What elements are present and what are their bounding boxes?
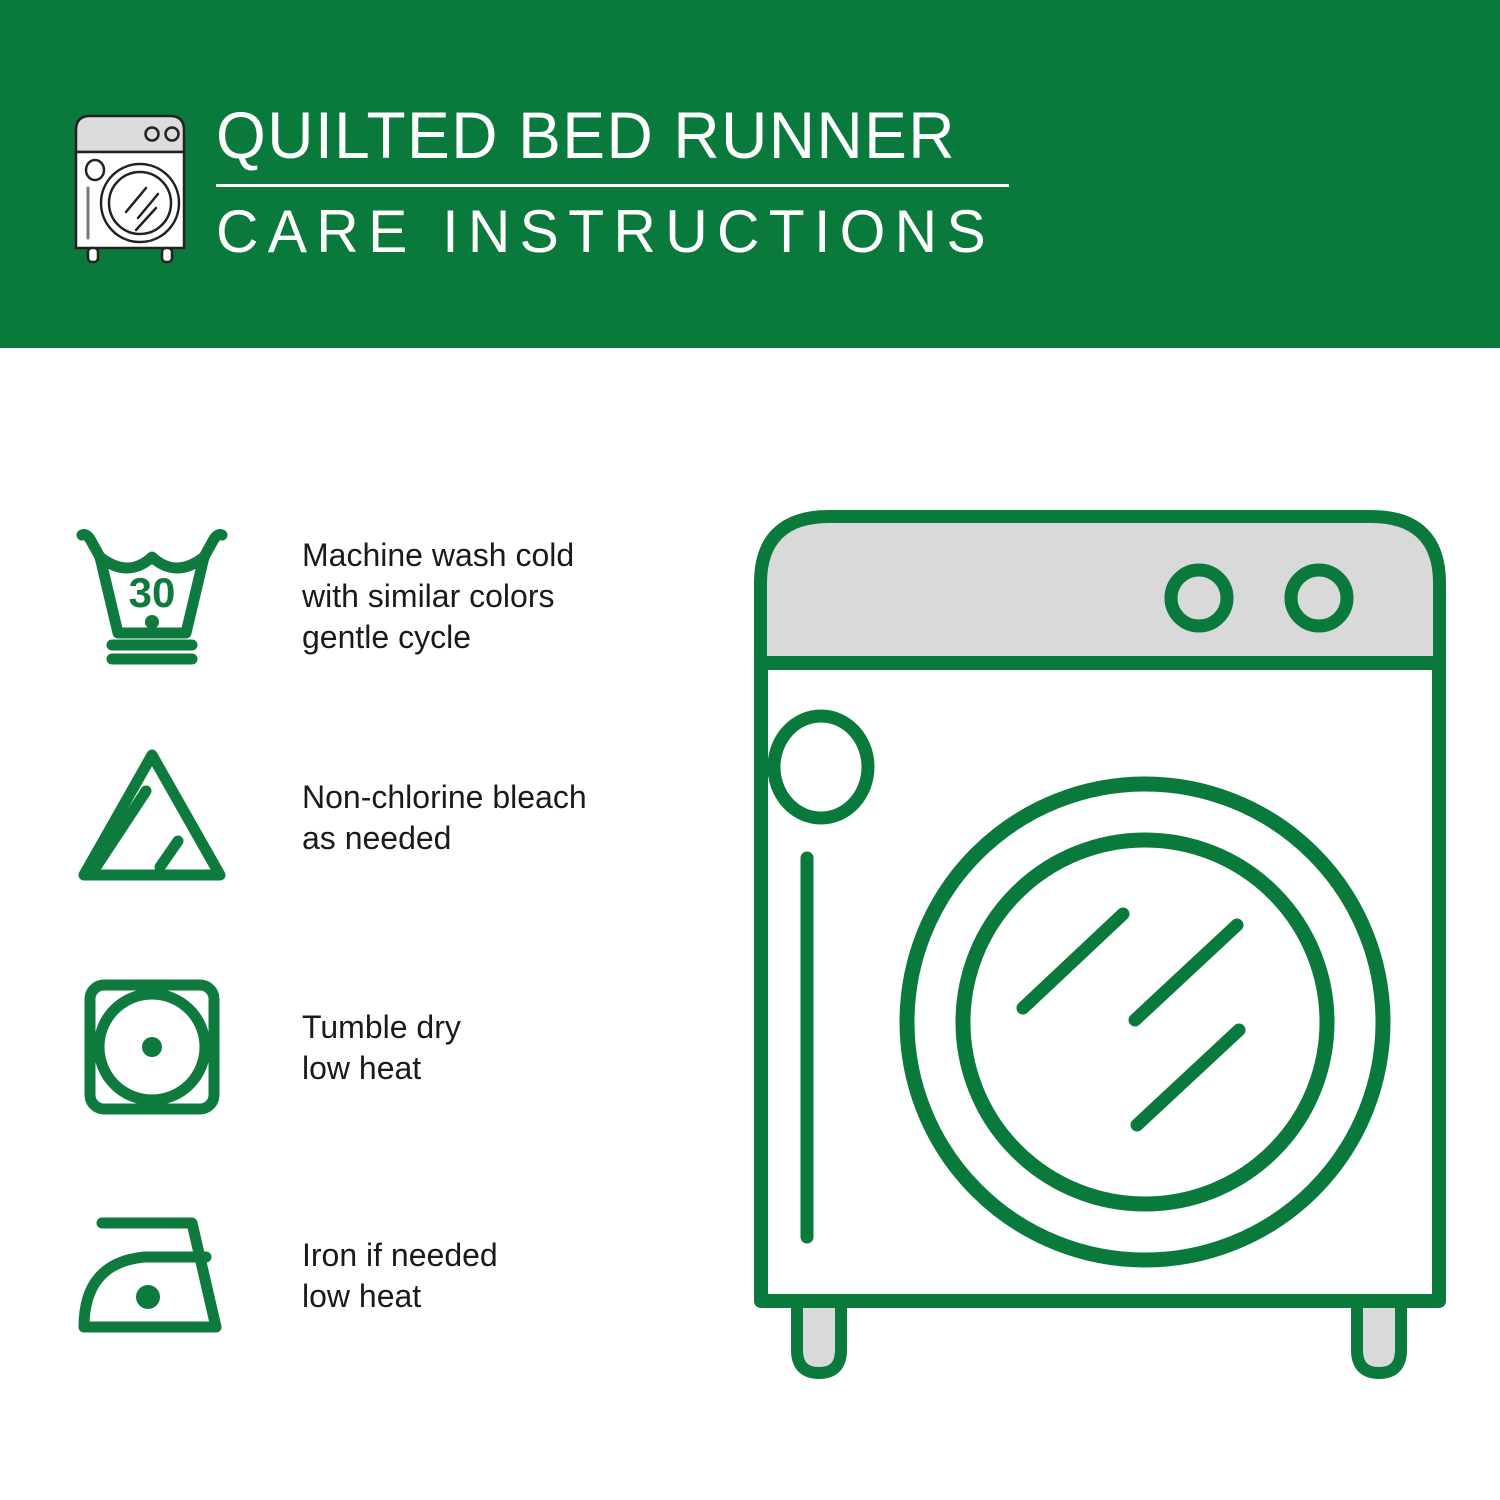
non-chlorine-bleach-triangle-icon [70, 743, 240, 893]
iron-low-heat-icon [70, 1201, 240, 1351]
washing-machine-illustration [745, 495, 1455, 1400]
page-title: QUILTED BED RUNNER [216, 96, 1002, 174]
header-text-block: QUILTED BED RUNNER CARE INSTRUCTIONS [216, 96, 1026, 265]
care-label-bleach: Non-chlorine bleach as needed [302, 777, 587, 859]
page-subtitle: CARE INSTRUCTIONS [216, 199, 1010, 265]
control-panel [767, 523, 1433, 663]
care-row-bleach: Non-chlorine bleach as needed [70, 728, 670, 908]
washing-machine-icon [62, 108, 198, 266]
title-divider [216, 184, 1009, 187]
care-label-machine-wash: Machine wash cold with similar colors ge… [302, 535, 574, 658]
header-banner: QUILTED BED RUNNER CARE INSTRUCTIONS [0, 0, 1500, 348]
tumble-dry-low-icon [70, 973, 240, 1123]
care-row-machine-wash: 30 Machine wash cold with similar colors… [70, 506, 670, 686]
care-instructions-page: QUILTED BED RUNNER CARE INSTRUCTIONS [0, 0, 1500, 1500]
care-instruction-list: 30 Machine wash cold with similar colors… [0, 348, 700, 1500]
care-label-iron: Iron if needed low heat [302, 1235, 498, 1317]
wash-tub-30-icon: 30 [70, 521, 240, 671]
care-label-tumble-dry: Tumble dry low heat [302, 1007, 461, 1089]
care-row-tumble-dry: Tumble dry low heat [70, 958, 670, 1138]
care-row-iron: Iron if needed low heat [70, 1186, 670, 1366]
wash-temperature-label: 30 [129, 569, 176, 616]
